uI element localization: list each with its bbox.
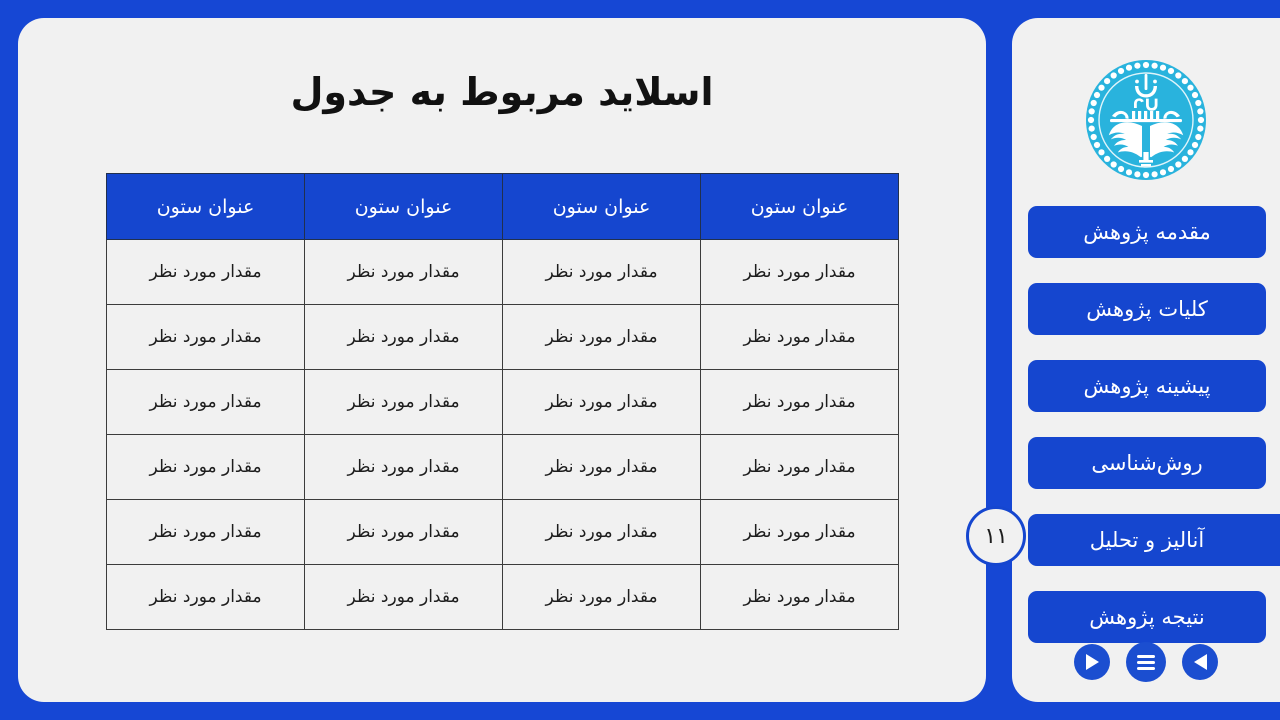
- table-cell: مقدار مورد نظر: [503, 370, 701, 435]
- table-cell: مقدار مورد نظر: [107, 435, 305, 500]
- table-head: عنوان ستونعنوان ستونعنوان ستونعنوان ستون: [107, 174, 899, 240]
- table-cell: مقدار مورد نظر: [107, 565, 305, 630]
- table-cell: مقدار مورد نظر: [305, 435, 503, 500]
- sidebar-item-label: مقدمه پژوهش: [1083, 220, 1211, 244]
- table-cell: مقدار مورد نظر: [305, 565, 503, 630]
- table-body: مقدار مورد نظرمقدار مورد نظرمقدار مورد ن…: [107, 240, 899, 630]
- table-column-header-3: عنوان ستون: [305, 174, 503, 240]
- sidebar-item-label: نتیجه پژوهش: [1089, 605, 1204, 629]
- table-cell: مقدار مورد نظر: [701, 240, 899, 305]
- table-cell: مقدار مورد نظر: [107, 305, 305, 370]
- university-of-tehran-logo-icon: [1082, 56, 1210, 184]
- table-cell: مقدار مورد نظر: [305, 370, 503, 435]
- menu-icon: [1137, 652, 1155, 673]
- previous-slide-icon: [1194, 654, 1207, 670]
- data-table: عنوان ستونعنوان ستونعنوان ستونعنوان ستون…: [106, 173, 899, 630]
- table-column-header-2: عنوان ستون: [503, 174, 701, 240]
- table-cell: مقدار مورد نظر: [503, 500, 701, 565]
- sidebar-item-label: آنالیز و تحلیل: [1090, 528, 1205, 552]
- table-header-row: عنوان ستونعنوان ستونعنوان ستونعنوان ستون: [107, 174, 899, 240]
- table-cell: مقدار مورد نظر: [701, 305, 899, 370]
- table-cell: مقدار مورد نظر: [305, 305, 503, 370]
- sidebar-nav: مقدمه پژوهشکلیات پژوهشپیشینه پژوهشروش‌شن…: [1012, 206, 1280, 668]
- table-cell: مقدار مورد نظر: [305, 500, 503, 565]
- table-column-header-4: عنوان ستون: [107, 174, 305, 240]
- table-cell: مقدار مورد نظر: [305, 240, 503, 305]
- table-row: مقدار مورد نظرمقدار مورد نظرمقدار مورد ن…: [107, 370, 899, 435]
- next-slide-button[interactable]: [1074, 644, 1110, 680]
- table-cell: مقدار مورد نظر: [701, 370, 899, 435]
- sidebar-item-1[interactable]: مقدمه پژوهش: [1028, 206, 1266, 258]
- table-row: مقدار مورد نظرمقدار مورد نظرمقدار مورد ن…: [107, 565, 899, 630]
- table-cell: مقدار مورد نظر: [107, 370, 305, 435]
- sidebar-item-4[interactable]: روش‌شناسی: [1028, 437, 1266, 489]
- table-column-header-1: عنوان ستون: [701, 174, 899, 240]
- page-title: اسلاید مربوط به جدول: [18, 70, 986, 114]
- previous-slide-button[interactable]: [1182, 644, 1218, 680]
- table-row: مقدار مورد نظرمقدار مورد نظرمقدار مورد ن…: [107, 305, 899, 370]
- sidebar-item-label: پیشینه پژوهش: [1084, 374, 1211, 398]
- table-row: مقدار مورد نظرمقدار مورد نظرمقدار مورد ن…: [107, 240, 899, 305]
- sidebar-item-2[interactable]: کلیات پژوهش: [1028, 283, 1266, 335]
- logo-area: [1012, 32, 1280, 207]
- table-cell: مقدار مورد نظر: [701, 435, 899, 500]
- sidebar-item-5[interactable]: آنالیز و تحلیل: [1028, 514, 1280, 566]
- next-slide-icon: [1086, 654, 1099, 670]
- sidebar-item-3[interactable]: پیشینه پژوهش: [1028, 360, 1266, 412]
- table-row: مقدار مورد نظرمقدار مورد نظرمقدار مورد ن…: [107, 435, 899, 500]
- slide-controls: [1012, 642, 1280, 682]
- sidebar-item-6[interactable]: نتیجه پژوهش: [1028, 591, 1266, 643]
- sidebar: مقدمه پژوهشکلیات پژوهشپیشینه پژوهشروش‌شن…: [1012, 18, 1280, 702]
- table-row: مقدار مورد نظرمقدار مورد نظرمقدار مورد ن…: [107, 500, 899, 565]
- slide-panel: اسلاید مربوط به جدول عنوان ستونعنوان ستو…: [18, 18, 986, 702]
- page-number-badge: ۱۱: [966, 506, 1026, 566]
- table-cell: مقدار مورد نظر: [701, 565, 899, 630]
- table-cell: مقدار مورد نظر: [701, 500, 899, 565]
- table-cell: مقدار مورد نظر: [503, 565, 701, 630]
- table-cell: مقدار مورد نظر: [107, 240, 305, 305]
- table-cell: مقدار مورد نظر: [503, 305, 701, 370]
- sidebar-item-label: کلیات پژوهش: [1086, 297, 1208, 321]
- table-cell: مقدار مورد نظر: [107, 500, 305, 565]
- data-table-container: عنوان ستونعنوان ستونعنوان ستونعنوان ستون…: [106, 173, 899, 630]
- table-cell: مقدار مورد نظر: [503, 435, 701, 500]
- table-cell: مقدار مورد نظر: [503, 240, 701, 305]
- menu-button[interactable]: [1126, 642, 1166, 682]
- sidebar-item-label: روش‌شناسی: [1091, 451, 1202, 475]
